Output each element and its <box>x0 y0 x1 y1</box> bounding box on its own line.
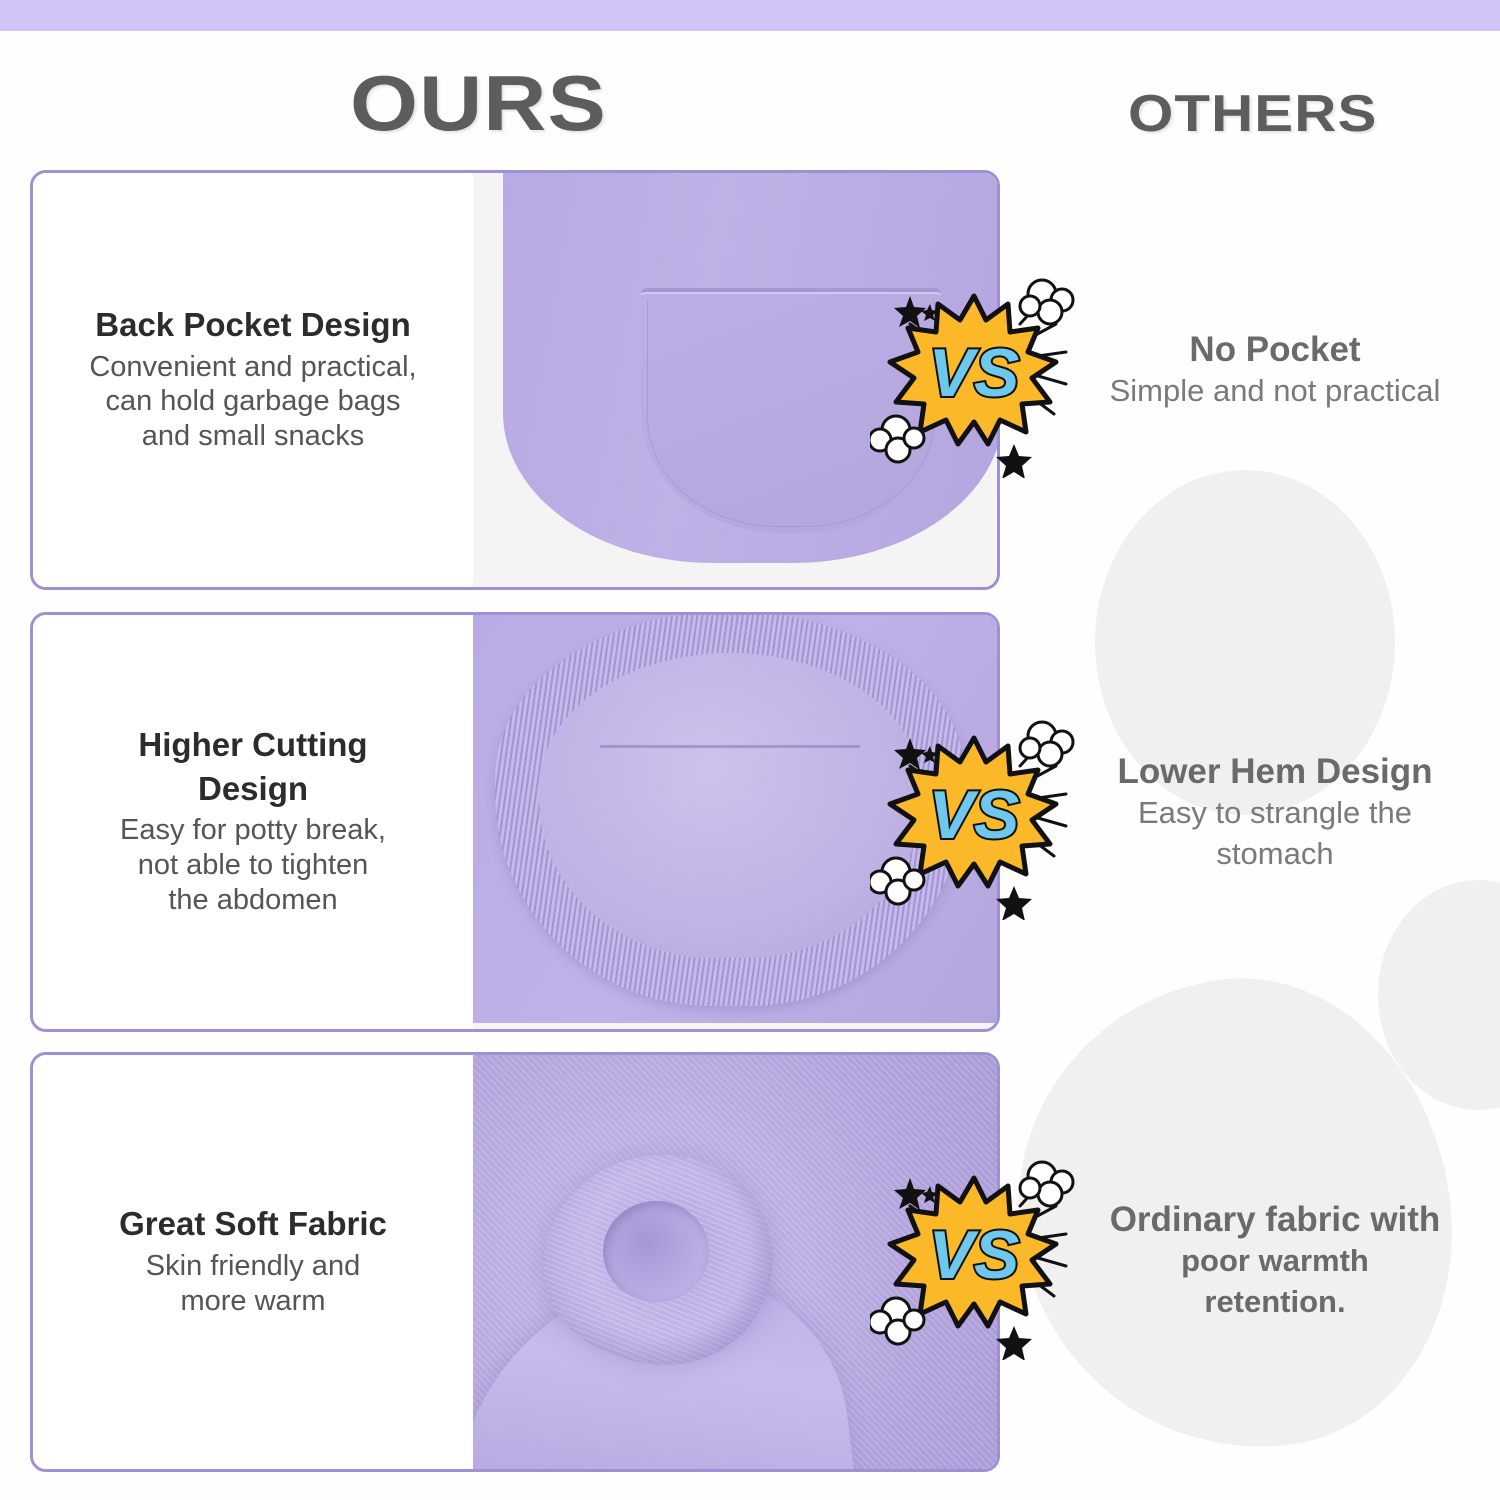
ours-column-heading: OURS <box>350 58 607 149</box>
infographic-page: OURS OTHERS Back Pocket Design Convenien… <box>0 0 1500 1500</box>
fabric-swirl-detail <box>543 1155 773 1365</box>
ours-feature-title: Higher Cutting <box>138 726 367 764</box>
others-feature-description-line: Easy to strangle the <box>1050 795 1500 832</box>
ours-feature-description-line: Easy for potty break, <box>120 813 386 848</box>
ours-feature-description-line: the abdomen <box>168 883 337 918</box>
others-feature-description-line: poor warmth <box>1050 1243 1500 1280</box>
others-feature-text: Ordinary fabric with poor warmth retenti… <box>1050 1200 1500 1320</box>
others-column-heading: OTHERS <box>1128 84 1377 144</box>
ours-feature-description-line: Convenient and practical, <box>89 350 416 385</box>
fleece-lining-detail <box>539 653 921 958</box>
others-feature-description-line: retention. <box>1050 1284 1500 1321</box>
others-feature-description-line: stomach <box>1050 836 1500 873</box>
comparison-row: Back Pocket Design Convenient and practi… <box>30 170 1000 590</box>
ours-feature-text: Higher Cutting Design Easy for potty bre… <box>33 615 473 1029</box>
others-feature-description-line: Simple and not practical <box>1050 373 1500 410</box>
ours-feature-text: Back Pocket Design Convenient and practi… <box>33 173 473 587</box>
ours-feature-description-line: not able to tighten <box>138 848 369 883</box>
ours-feature-text: Great Soft Fabric Skin friendly and more… <box>33 1055 473 1469</box>
vs-badge-label: VS <box>929 777 1020 853</box>
paw-print-toe-secondary-icon <box>1378 880 1500 1110</box>
vs-badge-icon: VS <box>870 1150 1080 1360</box>
vs-badge-label: VS <box>929 1217 1020 1293</box>
seam-line <box>600 745 860 748</box>
others-feature-text: No Pocket Simple and not practical <box>1050 330 1500 410</box>
vs-badge-label: VS <box>929 335 1020 411</box>
top-accent-banner <box>0 0 1500 31</box>
others-feature-text: Lower Hem Design Easy to strangle the st… <box>1050 752 1500 872</box>
ours-feature-description-line: more warm <box>180 1284 325 1319</box>
ours-feature-title: Back Pocket Design <box>95 306 410 344</box>
others-feature-title: Lower Hem Design <box>1050 752 1500 791</box>
vs-badge-icon: VS <box>870 268 1080 478</box>
others-feature-title: No Pocket <box>1050 330 1500 369</box>
comparison-row: Great Soft Fabric Skin friendly and more… <box>30 1052 1000 1472</box>
comparison-row: Higher Cutting Design Easy for potty bre… <box>30 612 1000 1032</box>
vs-badge-icon: VS <box>870 710 1080 920</box>
ours-feature-description-line: Skin friendly and <box>146 1249 360 1284</box>
others-feature-title: Ordinary fabric with <box>1050 1200 1500 1239</box>
ours-feature-card: Back Pocket Design Convenient and practi… <box>30 170 1000 590</box>
ours-feature-title: Design <box>198 770 308 808</box>
ours-feature-card: Great Soft Fabric Skin friendly and more… <box>30 1052 1000 1472</box>
ours-feature-card: Higher Cutting Design Easy for potty bre… <box>30 612 1000 1032</box>
ours-feature-description-line: and small snacks <box>142 419 364 454</box>
ours-feature-description-line: can hold garbage bags <box>105 384 400 419</box>
ours-feature-title: Great Soft Fabric <box>119 1205 387 1243</box>
